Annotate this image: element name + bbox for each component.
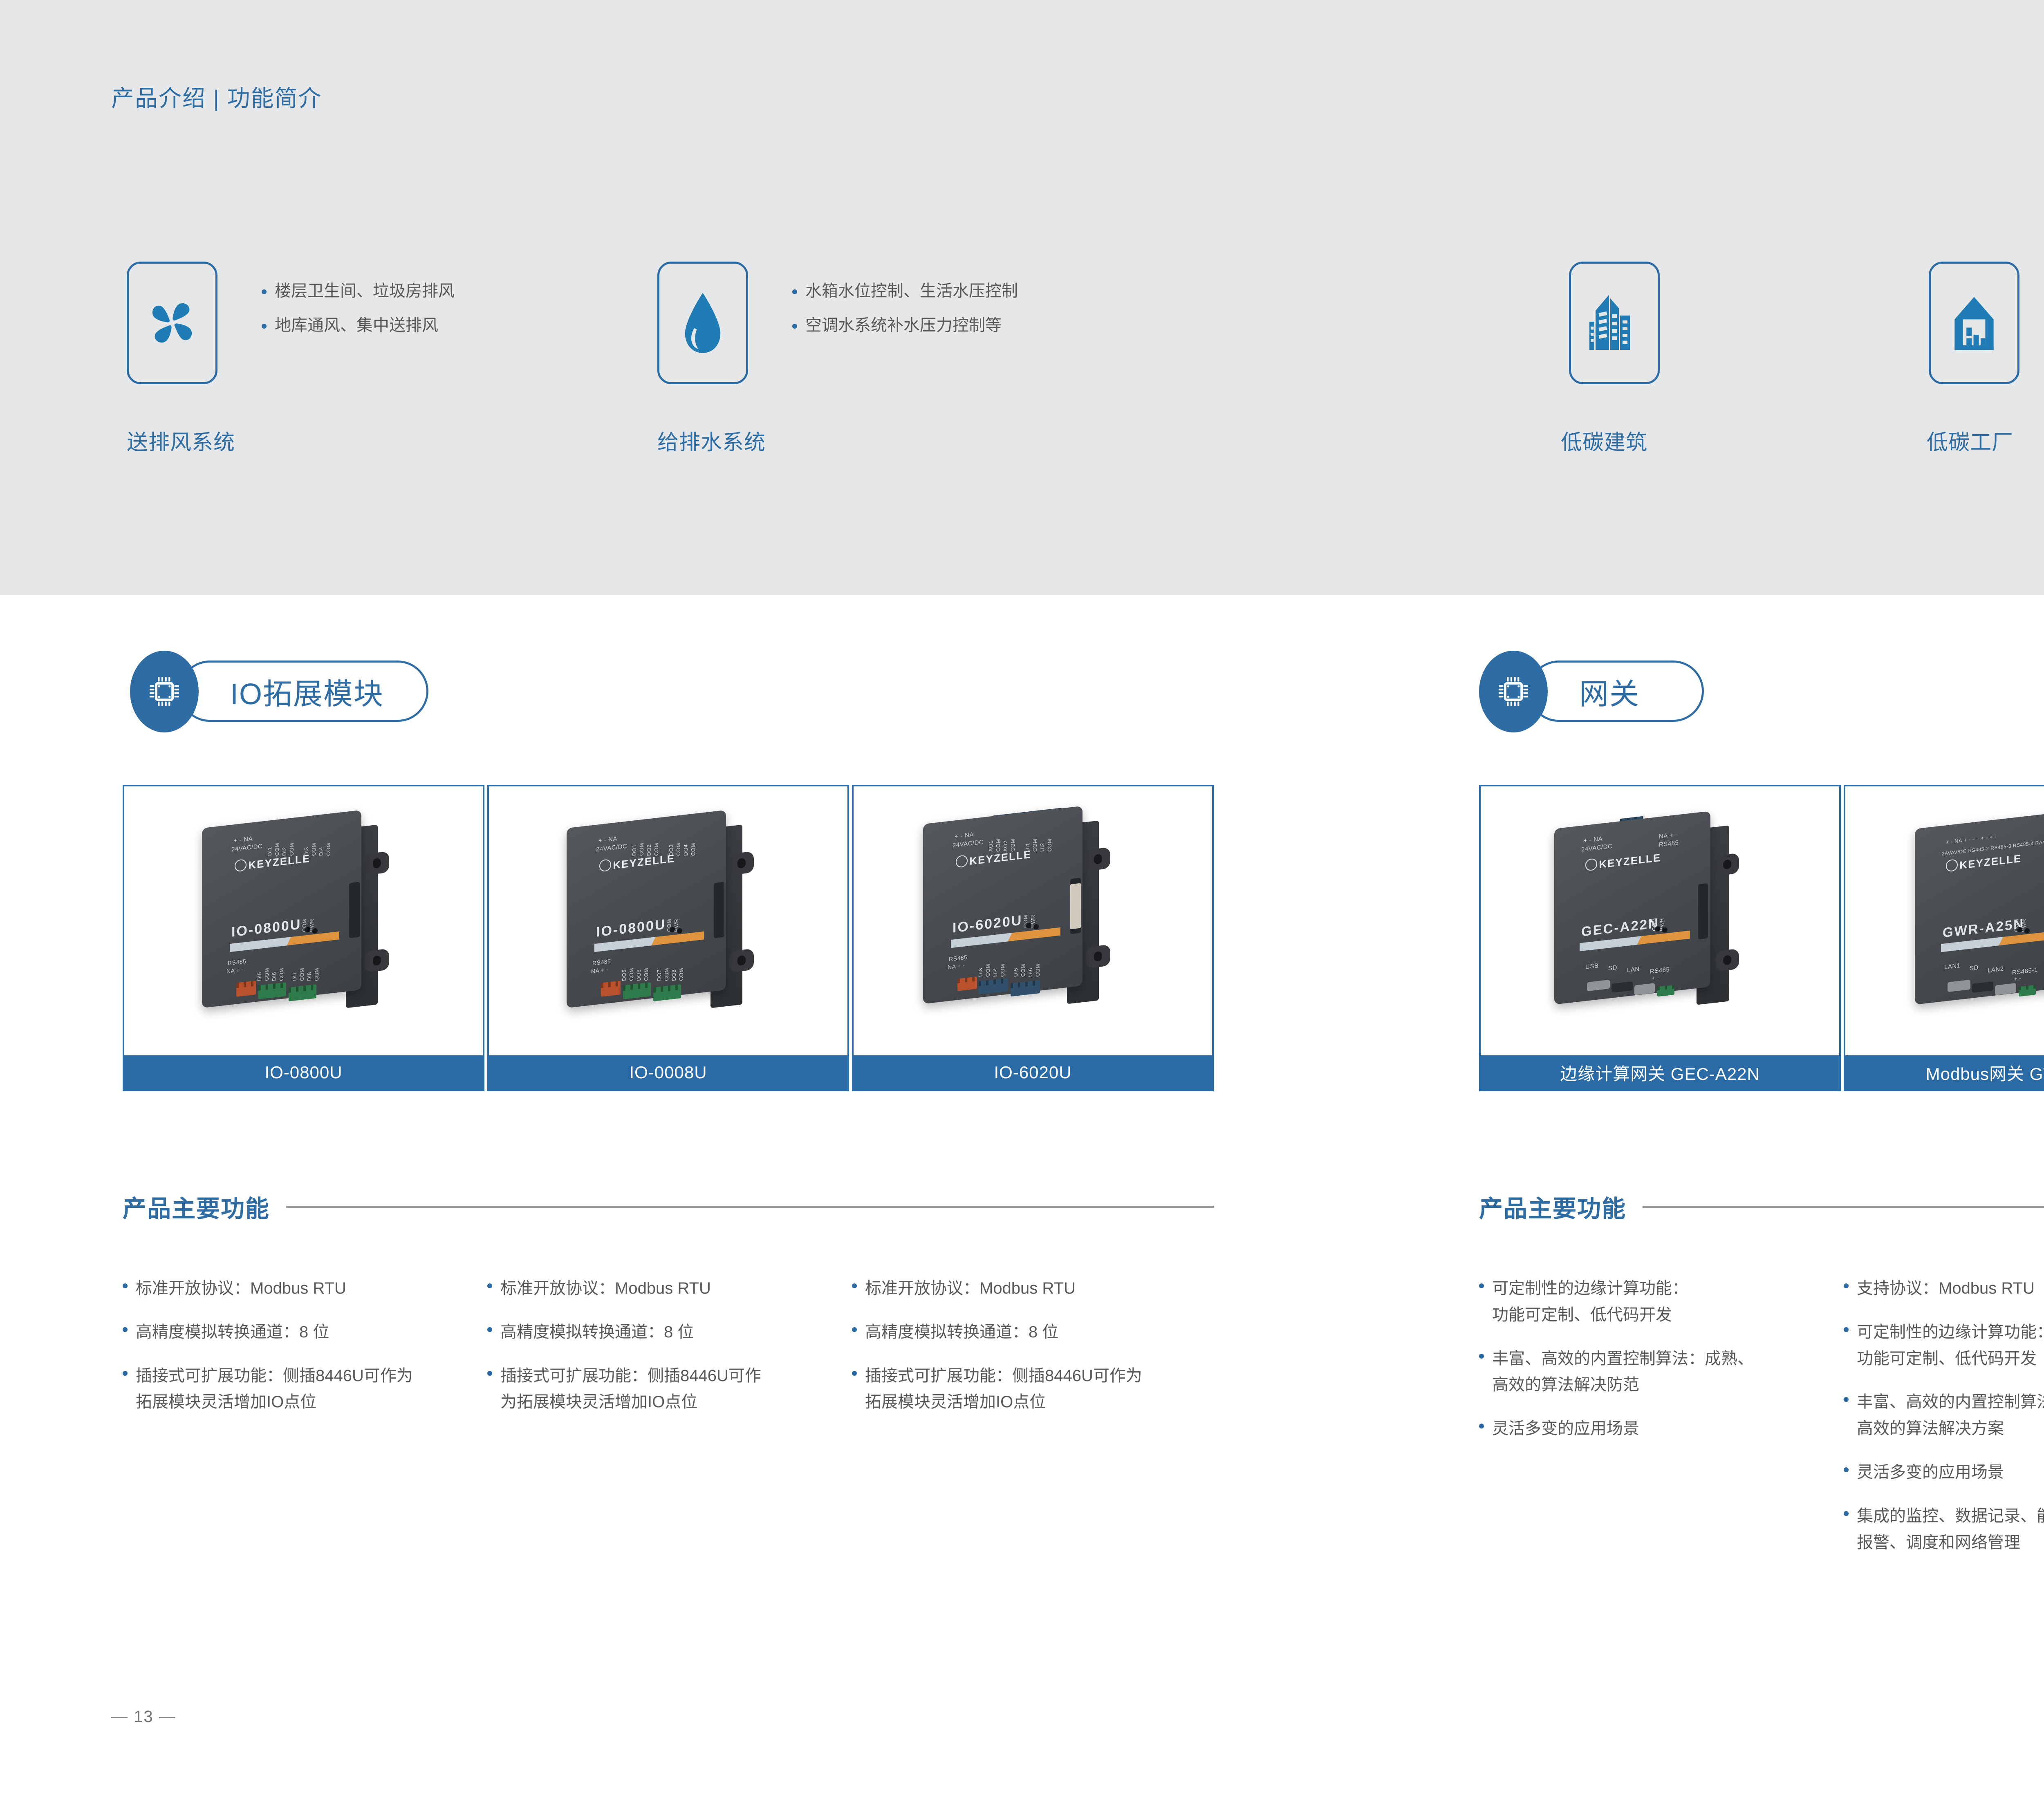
device-io-0800u: + - NA 24VAC/DC DI1 COM DI2 COM DI3 COM … <box>194 815 415 1028</box>
product-caption: IO-0800U <box>124 1055 483 1090</box>
list-item: 支持协议：Modbus RTU <box>1844 1275 2044 1302</box>
list-item: 高精度模拟转换通道：8 位 <box>852 1319 1212 1346</box>
list-item: 楼层卫生间、垃圾房排风 <box>262 282 455 300</box>
feature-text: 集成的监控、数据记录、能耗计量、 报警、调度和网络管理 <box>1857 1503 2044 1556</box>
features-heading-text: 产品主要功能 <box>1479 1189 1626 1224</box>
device-io-0008u: + - NA 24VAC/DC DO1 COM DO2 COM DO3 COM … <box>558 815 779 1028</box>
list-item: 集成的监控、数据记录、能耗计量、 报警、调度和网络管理 <box>1844 1503 2044 1556</box>
bullet-dot <box>852 1283 857 1288</box>
section-badge-pill: IO拓展模块 <box>179 661 428 722</box>
office-building-icon <box>1571 264 1658 382</box>
product-caption: IO-6020U <box>854 1055 1212 1090</box>
product-card[interactable]: + - NA 24VAC/DC DI1 COM DI2 COM DI3 COM … <box>123 785 484 1091</box>
list-item: 标准开放协议：Modbus RTU <box>123 1275 474 1302</box>
product-caption: Modbus网关 GWR-A25N <box>1845 1055 2044 1090</box>
product-card[interactable]: + - NA + - + - + - + - 2AVAV/DC RS485-2 … <box>1844 785 2044 1091</box>
list-item: 标准开放协议：Modbus RTU <box>852 1275 1212 1302</box>
section-badge-label: IO拓展模块 <box>230 670 384 713</box>
bullet-dot <box>1844 1327 1849 1332</box>
bullet-text: 地库通风、集中送排风 <box>275 316 438 334</box>
bullet-dot <box>487 1371 492 1376</box>
feature-text: 灵活多变的应用场景 <box>1857 1459 2004 1486</box>
list-item: 水箱水位控制、生活水压控制 <box>792 282 1018 300</box>
feature-column-gwr-a25n: 支持协议：Modbus RTU 可定制性的边缘计算功能： 功能可定制、低代码开发… <box>1844 1275 2044 1573</box>
feature-text: 高精度模拟转换通道：8 位 <box>865 1319 1058 1346</box>
bullet-dot <box>792 324 797 329</box>
factory-icon-frame <box>1929 262 2019 384</box>
section-badge-label: 网关 <box>1579 670 1640 713</box>
scenario-label-building: 低碳建筑 <box>1561 425 1647 456</box>
list-item: 灵活多变的应用场景 <box>1479 1415 1831 1442</box>
bullet-dot <box>852 1371 857 1376</box>
product-photo: + - NA 24VAC/DC AO1 COM AO2 COM UI1 COM … <box>854 786 1212 1055</box>
list-item: 高精度模拟转换通道：8 位 <box>487 1319 839 1346</box>
feature-column-io-0008u: 标准开放协议：Modbus RTU 高精度模拟转换通道：8 位 插接式可扩展功能… <box>487 1275 839 1433</box>
fan-icon <box>129 264 215 382</box>
product-card[interactable]: + - NA 24VAC/DC AO1 COM AO2 COM UI1 COM … <box>852 785 1214 1091</box>
list-item: 插接式可扩展功能：侧插8446U可作为 拓展模块灵活增加IO点位 <box>852 1363 1212 1416</box>
application-label-water: 给排水系统 <box>657 425 766 456</box>
bullet-text: 楼层卫生间、垃圾房排风 <box>275 282 455 300</box>
feature-text: 可定制性的边缘计算功能： 功能可定制、低代码开发 <box>1857 1319 2044 1372</box>
feature-column-io-6020u: 标准开放协议：Modbus RTU 高精度模拟转换通道：8 位 插接式可扩展功能… <box>852 1275 1212 1433</box>
bullet-dot <box>1844 1283 1849 1288</box>
bullet-dot <box>1844 1467 1849 1472</box>
product-photo: + - NA 24VAC/DC DO1 COM DO2 COM DO3 COM … <box>489 786 847 1055</box>
feature-column-io-0800u: 标准开放协议：Modbus RTU 高精度模拟转换通道：8 位 插接式可扩展功能… <box>123 1275 474 1433</box>
running-header-left: 产品介绍 | 功能简介 <box>111 80 322 113</box>
device-gwr-a25n: + - NA + - + - + - + - 2AVAV/DC RS485-2 … <box>1907 815 2044 1028</box>
features-heading-right: 产品主要功能 <box>1479 1189 2044 1224</box>
feature-text: 丰富、高效的内置控制算法：成熟、 高效的算法解决防范 <box>1492 1346 1754 1399</box>
feature-text: 灵活多变的应用场景 <box>1492 1415 1639 1442</box>
scenario-label-factory: 低碳工厂 <box>1927 425 2013 456</box>
office-building-icon-frame <box>1569 262 1660 384</box>
feature-text: 丰富、高效的内置控制算法：成熟、 高效的算法解决方案 <box>1857 1389 2044 1442</box>
feature-text: 高精度模拟转换通道：8 位 <box>500 1319 694 1346</box>
list-item: 可定制性的边缘计算功能： 功能可定制、低代码开发 <box>1844 1319 2044 1372</box>
feature-column-gec-a22n: 可定制性的边缘计算功能： 功能可定制、低代码开发 丰富、高效的内置控制算法：成熟… <box>1479 1275 1831 1459</box>
bullet-dot <box>1844 1397 1849 1402</box>
bullet-dot <box>262 289 267 294</box>
list-item: 地库通风、集中送排风 <box>262 316 455 334</box>
product-photo: + - NA + - + - + - + - 2AVAV/DC RS485-2 … <box>1845 786 2044 1055</box>
bullet-text: 空调水系统补水压力控制等 <box>805 316 1002 334</box>
bullet-dot <box>1479 1424 1484 1429</box>
water-bullet-list: 水箱水位控制、生活水压控制 空调水系统补水压力控制等 <box>792 282 1018 351</box>
list-item: 标准开放协议：Modbus RTU <box>487 1275 839 1302</box>
bullet-dot <box>123 1283 128 1288</box>
list-item: 插接式可扩展功能：侧插8446U可作 为拓展模块灵活增加IO点位 <box>487 1363 839 1416</box>
bullet-dot <box>852 1327 857 1332</box>
feature-text: 标准开放协议：Modbus RTU <box>865 1275 1076 1302</box>
application-label-fan: 送排风系统 <box>127 425 235 456</box>
list-item: 插接式可扩展功能：侧插8446U可作为 拓展模块灵活增加IO点位 <box>123 1363 474 1416</box>
bullet-dot <box>262 324 267 329</box>
list-item: 空调水系统补水压力控制等 <box>792 316 1018 334</box>
page-number-left: — 13 — <box>111 1708 176 1726</box>
list-item: 灵活多变的应用场景 <box>1844 1459 2044 1486</box>
feature-text: 可定制性的边缘计算功能： 功能可定制、低代码开发 <box>1492 1275 1688 1328</box>
bullet-dot <box>1479 1354 1484 1359</box>
section-badge-io: IO拓展模块 <box>130 651 428 732</box>
chip-icon <box>1479 651 1548 732</box>
feature-text: 高精度模拟转换通道：8 位 <box>136 1319 329 1346</box>
product-card[interactable]: + - NA 24VAC/DC NA + - RS485 KEYZELLE GE… <box>1479 785 1841 1091</box>
feature-text: 支持协议：Modbus RTU <box>1857 1275 2035 1302</box>
section-badge-pill: 网关 <box>1528 661 1704 722</box>
product-caption: IO-0008U <box>489 1055 847 1090</box>
bullet-text: 水箱水位控制、生活水压控制 <box>805 282 1018 300</box>
list-item: 可定制性的边缘计算功能： 功能可定制、低代码开发 <box>1479 1275 1831 1328</box>
bullet-dot <box>123 1327 128 1332</box>
device-io-6020u: + - NA 24VAC/DC AO1 COM AO2 COM UI1 COM … <box>915 811 1144 1032</box>
feature-text: 插接式可扩展功能：侧插8446U可作为 拓展模块灵活增加IO点位 <box>136 1363 413 1416</box>
feature-text: 插接式可扩展功能：侧插8446U可作为 拓展模块灵活增加IO点位 <box>865 1363 1142 1416</box>
water-drop-icon <box>659 264 746 382</box>
feature-text: 标准开放协议：Modbus RTU <box>136 1275 346 1302</box>
features-heading-text: 产品主要功能 <box>123 1189 270 1224</box>
features-heading-left: 产品主要功能 <box>123 1189 1214 1224</box>
chip-icon <box>130 651 199 732</box>
water-drop-icon-frame <box>657 262 748 384</box>
factory-icon <box>1931 264 2017 382</box>
bullet-dot <box>487 1327 492 1332</box>
product-caption: 边缘计算网关 GEC-A22N <box>1481 1055 1839 1090</box>
product-card[interactable]: + - NA 24VAC/DC DO1 COM DO2 COM DO3 COM … <box>487 785 849 1091</box>
product-photo: + - NA 24VAC/DC DI1 COM DI2 COM DI3 COM … <box>124 786 483 1055</box>
section-badge-gateway: 网关 <box>1479 651 1708 732</box>
fan-bullet-list: 楼层卫生间、垃圾房排风 地库通风、集中送排风 <box>262 282 455 351</box>
bullet-dot <box>1479 1283 1484 1288</box>
heading-rule <box>286 1206 1214 1208</box>
feature-text: 插接式可扩展功能：侧插8446U可作 为拓展模块灵活增加IO点位 <box>500 1363 761 1416</box>
list-item: 丰富、高效的内置控制算法：成熟、 高效的算法解决方案 <box>1844 1389 2044 1442</box>
bullet-dot <box>123 1371 128 1376</box>
bullet-dot <box>792 289 797 294</box>
heading-rule <box>1643 1206 2044 1208</box>
brochure-spread: 产品介绍 | 功能简介 产品介绍 | 功能简介 楼层卫生间、垃圾房排风 <box>0 0 2044 1798</box>
fan-icon-frame <box>127 262 217 384</box>
list-item: 丰富、高效的内置控制算法：成熟、 高效的算法解决防范 <box>1479 1346 1831 1399</box>
list-item: 高精度模拟转换通道：8 位 <box>123 1319 474 1346</box>
feature-text: 标准开放协议：Modbus RTU <box>500 1275 711 1302</box>
bullet-dot <box>487 1283 492 1288</box>
device-gec-a22n: + - NA 24VAC/DC NA + - RS485 KEYZELLE GE… <box>1546 815 1775 1028</box>
product-photo: + - NA 24VAC/DC NA + - RS485 KEYZELLE GE… <box>1481 786 1839 1055</box>
bullet-dot <box>1844 1511 1849 1516</box>
